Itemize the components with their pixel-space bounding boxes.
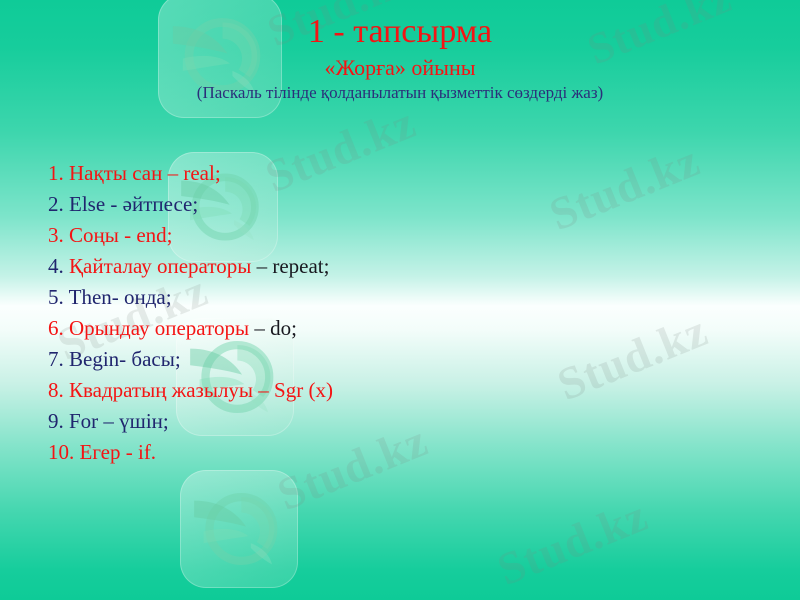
list-item-segment: 8. Квадратың жазылуы – Sgr (x) — [48, 378, 333, 402]
list-item-segment: – do; — [254, 316, 297, 340]
list-item: 3. Соңы - end; — [48, 220, 748, 251]
list-item-segment: 6. — [48, 316, 69, 340]
list-item: 6. Орындау операторы – do; — [48, 313, 748, 344]
slide-canvas: Stud.kzStud.kzStud.kzStud.kzStud.kzStud.… — [0, 0, 800, 600]
list-item-segment: 9. For – үшін; — [48, 409, 169, 433]
page-title: 1 - тапсырма — [0, 12, 800, 52]
list-item: 7. Begin- басы; — [48, 344, 748, 375]
list-item-segment: Қайталау операторы — [69, 254, 257, 278]
slide-header: 1 - тапсырма «Жорға» ойыны (Паскаль тілі… — [0, 0, 800, 104]
list-item: 4. Қайталау операторы – repeat; — [48, 251, 748, 282]
list-item: 8. Квадратың жазылуы – Sgr (x) — [48, 375, 748, 406]
page-instruction: (Паскаль тілінде қолданылатын қызметтік … — [0, 82, 800, 104]
list-item-segment: 5. Then- онда; — [48, 285, 172, 309]
list-item-segment: 2. Else - әйтпесе; — [48, 192, 198, 216]
list-item: 1. Нақты сан – real; — [48, 158, 748, 189]
list-item-segment: 7. Begin- басы; — [48, 347, 181, 371]
list-item: 2. Else - әйтпесе; — [48, 189, 748, 220]
page-subtitle: «Жорға» ойыны — [0, 54, 800, 81]
list-item-segment: Орындау операторы — [69, 316, 254, 340]
list-item-segment: 10. Егер - if. — [48, 440, 156, 464]
list-item: 10. Егер - if. — [48, 437, 748, 468]
answer-list: 1. Нақты сан – real;2. Else - әйтпесе;3.… — [48, 158, 748, 468]
watermark-leaf-icon — [180, 470, 298, 588]
list-item-segment: 3. Соңы - end; — [48, 223, 173, 247]
watermark-text: Stud.kz — [490, 488, 655, 596]
list-item-segment: 1. Нақты сан – real; — [48, 161, 221, 185]
list-item: 9. For – үшін; — [48, 406, 748, 437]
list-item: 5. Then- онда; — [48, 282, 748, 313]
list-item-segment: – repeat; — [257, 254, 330, 278]
list-item-segment: 4. — [48, 254, 69, 278]
